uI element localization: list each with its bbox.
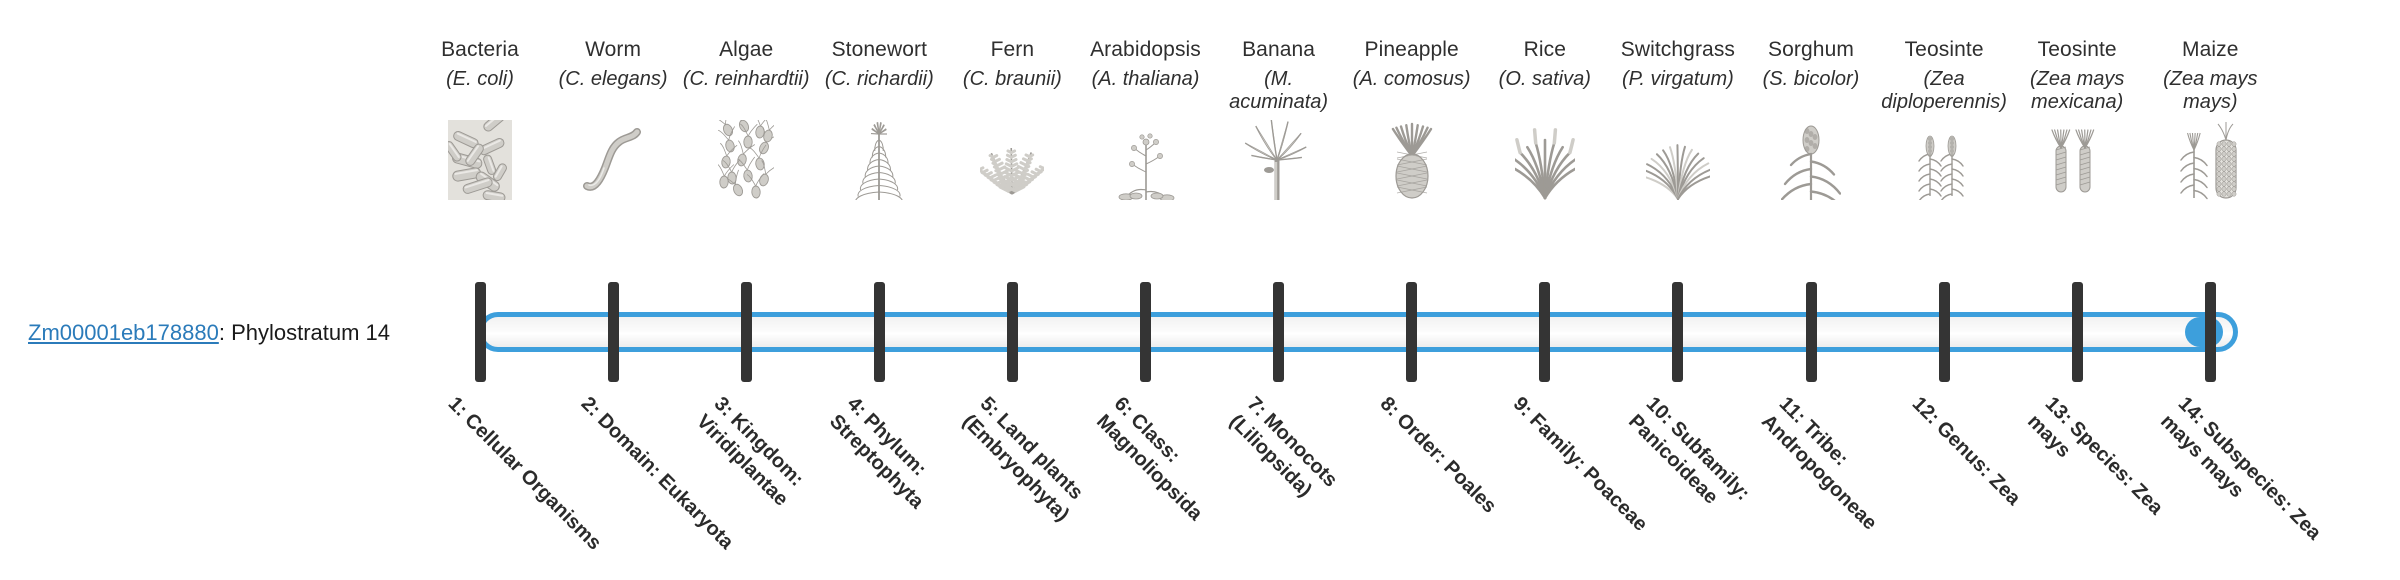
species-scientific-name: (C. elegans) <box>547 68 680 91</box>
phylostratum-tick <box>608 282 619 382</box>
species-common-name: Banana <box>1212 38 1345 62</box>
species-common-name: Sorghum <box>1745 38 1878 62</box>
phylostratum-tick <box>475 282 486 382</box>
species-common-name: Algae <box>680 38 813 62</box>
species-common-name: Pineapple <box>1345 38 1478 62</box>
teosinte-mexicana-illustration <box>2011 112 2144 200</box>
sorghum-illustration <box>1745 112 1878 200</box>
species-scientific-name: (A. comosus) <box>1345 68 1478 91</box>
gene-phylostratum-text: Phylostratum 14 <box>231 320 390 345</box>
phylostratigraphy-diagram: Zm00001eb178880: Phylostratum 14 Bacteri… <box>0 0 2400 580</box>
species-common-name: Stonewort <box>813 38 946 62</box>
species-scientific-name: (P. virgatum) <box>1611 68 1744 91</box>
species-common-name: Teosinte <box>2011 38 2144 62</box>
species-common-name: Teosinte <box>1878 38 2011 62</box>
species-scientific-name: (S. bicolor) <box>1745 68 1878 91</box>
phylostratum-tick <box>1007 282 1018 382</box>
species-scientific-name: (Zea mays mays) <box>2144 68 2277 114</box>
phylostratum-tick <box>1406 282 1417 382</box>
species-common-name: Fern <box>946 38 1079 62</box>
species-scientific-name: (C. richardii) <box>813 68 946 91</box>
phylostratum-tick <box>1539 282 1550 382</box>
species-common-name: Arabidopsis <box>1079 38 1212 62</box>
phylostratum-tick <box>2205 282 2216 382</box>
species-scientific-name: (Zea mays mexicana) <box>2011 68 2144 114</box>
banana-illustration <box>1212 112 1345 200</box>
algae-illustration <box>680 112 813 200</box>
rice-illustration <box>1478 112 1611 200</box>
phylostratum-tick <box>741 282 752 382</box>
species-scientific-name: (Zea diploperennis) <box>1878 68 2011 114</box>
gene-id-link[interactable]: Zm00001eb178880 <box>28 320 219 345</box>
phylostratum-tick <box>1273 282 1284 382</box>
worm-illustration <box>547 112 680 200</box>
species-scientific-name: (A. thaliana) <box>1079 68 1212 91</box>
species-common-name: Switchgrass <box>1611 38 1744 62</box>
phylostratum-tick <box>1672 282 1683 382</box>
arabidopsis-illustration <box>1079 112 1212 200</box>
maize-illustration <box>2144 112 2277 200</box>
stonewort-illustration <box>813 112 946 200</box>
phylostratum-tick <box>1806 282 1817 382</box>
phylostratum-tick <box>2072 282 2083 382</box>
phylostratum-tick <box>1140 282 1151 382</box>
species-scientific-name: (M. acuminata) <box>1212 68 1345 114</box>
species-common-name: Bacteria <box>414 38 547 62</box>
species-scientific-name: (E. coli) <box>414 68 547 91</box>
fern-illustration <box>946 112 1079 200</box>
gene-label-separator: : <box>219 320 231 345</box>
phylostratum-tick <box>1939 282 1950 382</box>
switchgrass-illustration <box>1611 112 1744 200</box>
phylostratum-tick <box>874 282 885 382</box>
species-common-name: Rice <box>1478 38 1611 62</box>
species-scientific-name: (O. sativa) <box>1478 68 1611 91</box>
species-scientific-name: (C. braunii) <box>946 68 1079 91</box>
teosinte-diplo-illustration <box>1878 112 2011 200</box>
species-scientific-name: (C. reinhardtii) <box>680 68 813 91</box>
gene-row-label: Zm00001eb178880: Phylostratum 14 <box>28 320 390 346</box>
pineapple-illustration <box>1345 112 1478 200</box>
species-common-name: Worm <box>547 38 680 62</box>
species-common-name: Maize <box>2144 38 2277 62</box>
bacteria-illustration <box>414 112 547 200</box>
